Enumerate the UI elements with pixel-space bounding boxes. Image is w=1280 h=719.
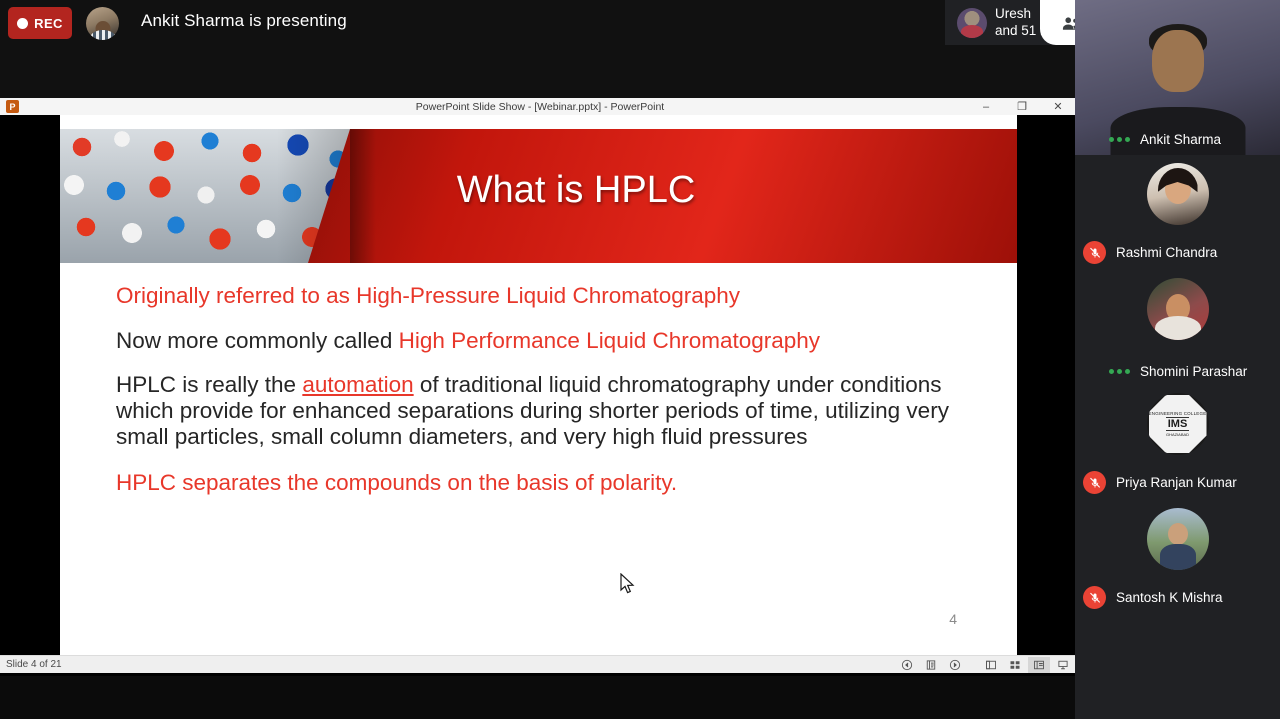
participant-tile-ankit-sharma[interactable]: Ankit Sharma [1075, 0, 1280, 155]
slide-page-number: 4 [949, 611, 957, 627]
reading-view-icon[interactable] [1028, 657, 1050, 673]
participant-name-row: Ankit Sharma [1075, 132, 1280, 147]
slide-title: What is HPLC [60, 169, 1017, 212]
participant-name: Shomini Parashar [1140, 364, 1247, 379]
participant-tile-rashmi-chandra[interactable]: Rashmi Chandra [1075, 155, 1280, 270]
recording-badge[interactable]: REC [8, 7, 72, 39]
slide-body: Originally referred to as High-Pressure … [116, 283, 987, 515]
participant-name: Ankit Sharma [1140, 132, 1221, 147]
meet-top-bar: REC Ankit Sharma is presenting [0, 0, 1080, 98]
participant-name-row: Santosh K Mishra [1075, 586, 1280, 609]
minimize-button[interactable]: – [968, 98, 1004, 115]
powerpoint-title-bar[interactable]: P PowerPoint Slide Show - [Webinar.pptx]… [0, 98, 1080, 115]
ims-seal-icon: ENGINEERING COLLEGE IMS GHAZIABAD [1149, 395, 1207, 453]
presenting-status-text: Ankit Sharma is presenting [141, 11, 347, 31]
slide-line-2-plain: Now more commonly called [116, 328, 399, 353]
restore-button[interactable]: ❐ [1004, 98, 1040, 115]
avatar-body-shape [90, 30, 116, 40]
participant-name-row: Rashmi Chandra [1075, 241, 1280, 264]
speaking-indicator-icon [1109, 369, 1130, 374]
next-slide-icon[interactable] [944, 657, 966, 673]
video-body-shape [1110, 107, 1245, 155]
mic-off-icon [1083, 241, 1106, 264]
notes-icon[interactable] [920, 657, 942, 673]
video-head-shape [1152, 30, 1204, 92]
presentation-slide[interactable]: What is HPLC Originally referred to as H… [60, 115, 1017, 655]
participant-name-row: Shomini Parashar [1075, 364, 1280, 379]
slide-paragraph: HPLC is really the automation of traditi… [116, 372, 987, 450]
participant-tile-shomini-parashar[interactable]: Shomini Parashar [1075, 270, 1280, 385]
slide-line-2: Now more commonly called High Performanc… [116, 328, 987, 355]
mic-off-icon [1083, 586, 1106, 609]
participant-name: Rashmi Chandra [1116, 245, 1217, 260]
participant-tile-priya-ranjan-kumar[interactable]: ENGINEERING COLLEGE IMS GHAZIABAD Priya … [1075, 385, 1280, 500]
participant-tile-santosh-k-mishra[interactable]: Santosh K Mishra [1075, 500, 1280, 615]
screen-root: REC Ankit Sharma is presenting Uresh and… [0, 0, 1280, 719]
mouse-cursor-icon [620, 573, 636, 600]
participant-avatar-ims-logo-icon: ENGINEERING COLLEGE IMS GHAZIABAD [1147, 393, 1209, 455]
previous-slide-icon[interactable] [896, 657, 918, 673]
slide-paragraph-part-a: HPLC is really the [116, 372, 302, 397]
automation-hyperlink[interactable]: automation [302, 372, 413, 397]
slide-line-2-red: High Performance Liquid Chromatography [399, 328, 820, 353]
participant-name-row: Priya Ranjan Kumar [1075, 471, 1280, 494]
presenter-avatar [86, 7, 119, 40]
recording-label: REC [34, 16, 63, 31]
record-dot-icon [17, 18, 28, 29]
slide-line-1: Originally referred to as High-Pressure … [116, 283, 987, 310]
slide-line-4: HPLC separates the compounds on the basi… [116, 470, 987, 497]
participant-avatar [1147, 278, 1209, 340]
status-bar-icons [896, 657, 1074, 673]
speaking-indicator-icon [1109, 137, 1130, 142]
slide-sorter-icon[interactable] [1004, 657, 1026, 673]
slide-stage: What is HPLC Originally referred to as H… [0, 115, 1080, 655]
participant-name: Santosh K Mishra [1116, 590, 1223, 605]
participants-rail[interactable]: Ankit Sharma Rashmi Chandra Shom [1075, 0, 1280, 719]
mic-off-icon [1083, 471, 1106, 494]
powerpoint-status-bar: Slide 4 of 21 [0, 655, 1080, 673]
participant-name: Priya Ranjan Kumar [1116, 475, 1237, 490]
powerpoint-window-title: PowerPoint Slide Show - [Webinar.pptx] -… [0, 101, 1080, 113]
powerpoint-window: P PowerPoint Slide Show - [Webinar.pptx]… [0, 98, 1080, 676]
active-speaker-avatar [957, 8, 987, 38]
normal-view-icon[interactable] [980, 657, 1002, 673]
slideshow-icon[interactable] [1052, 657, 1074, 673]
participant-avatar [1147, 163, 1209, 225]
participant-avatar [1147, 508, 1209, 570]
window-buttons: – ❐ ✕ [968, 98, 1076, 115]
slide-indicator-text: Slide 4 of 21 [6, 659, 62, 670]
close-button[interactable]: ✕ [1040, 98, 1076, 115]
slide-header-banner: What is HPLC [60, 129, 1017, 263]
